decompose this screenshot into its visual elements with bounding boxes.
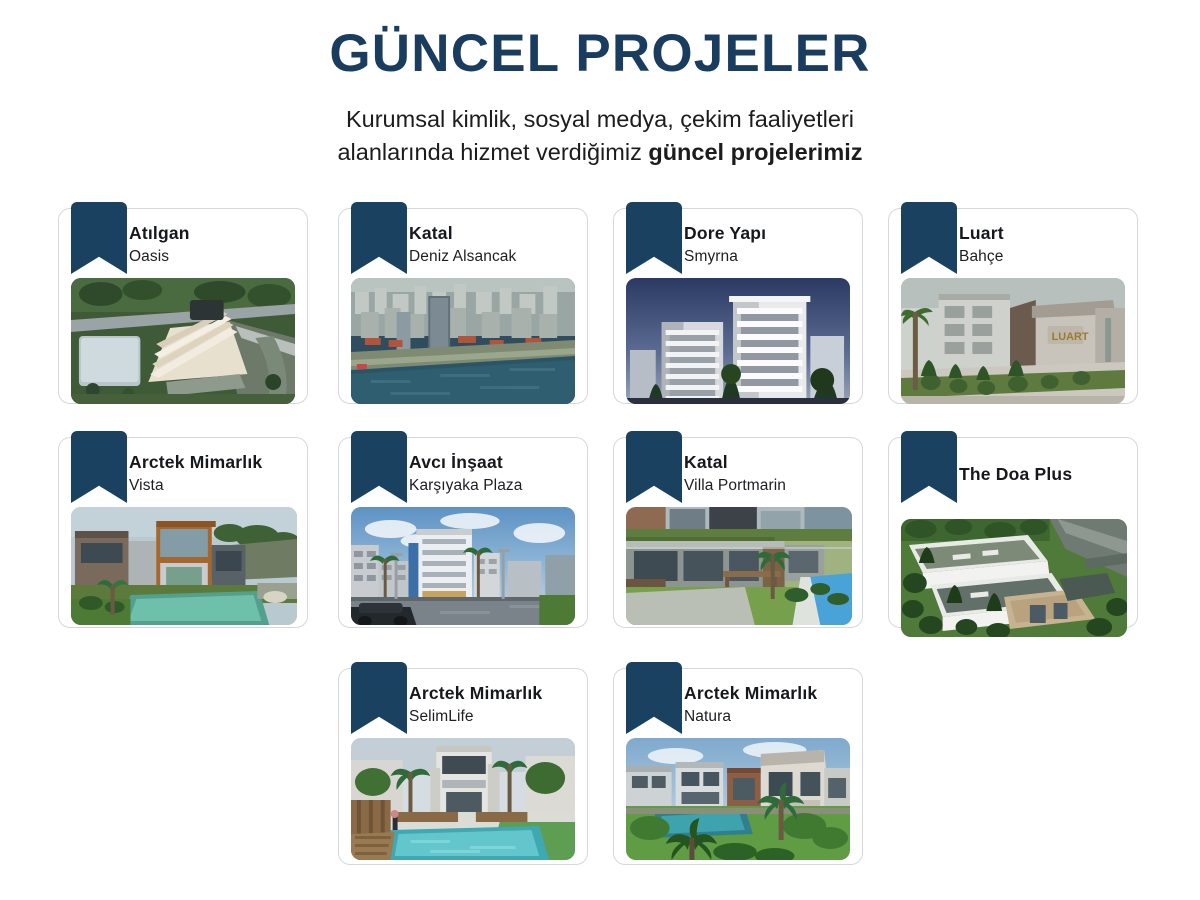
project-thumbnail[interactable]: [351, 738, 575, 860]
project-thumbnail[interactable]: [351, 278, 575, 404]
project-card[interactable]: Katal Villa Portmarin: [613, 437, 863, 628]
subtitle-line-2: alanlarında hizmet verdiğimiz güncel pro…: [0, 136, 1200, 169]
project-subtitle: Vista: [129, 476, 295, 495]
project-title: Atılgan: [129, 223, 295, 244]
project-subtitle: Karşıyaka Plaza: [409, 476, 575, 495]
project-title: Dore Yapı: [684, 223, 850, 244]
page-subtitle: Kurumsal kimlik, sosyal medya, çekim faa…: [0, 103, 1200, 170]
project-thumbnail[interactable]: [626, 278, 850, 404]
project-card[interactable]: Dore Yapı Smyrna: [613, 208, 863, 404]
project-card[interactable]: Arctek Mimarlık SelimLife: [338, 668, 588, 865]
project-card[interactable]: Avcı İnşaat Karşıyaka Plaza: [338, 437, 588, 628]
project-card[interactable]: Atılgan Oasis: [58, 208, 308, 404]
project-title: Arctek Mimarlık: [129, 452, 295, 473]
project-thumbnail[interactable]: [71, 507, 297, 625]
project-title: The Doa Plus: [959, 464, 1125, 485]
project-thumbnail[interactable]: [626, 738, 850, 860]
project-subtitle: Smyrna: [684, 247, 850, 266]
project-card[interactable]: Katal Deniz Alsancak: [338, 208, 588, 404]
subtitle-line-2-bold: güncel projelerimiz: [648, 139, 862, 165]
project-subtitle: Natura: [684, 707, 850, 726]
project-thumbnail[interactable]: [351, 507, 575, 625]
project-title: Avcı İnşaat: [409, 452, 575, 473]
project-card[interactable]: Luart Bahçe: [888, 208, 1138, 404]
project-title: Arctek Mimarlık: [684, 683, 850, 704]
page-title: GÜNCEL PROJELER: [0, 26, 1200, 82]
project-subtitle: Bahçe: [959, 247, 1125, 266]
project-subtitle: Oasis: [129, 247, 295, 266]
subtitle-line-1: Kurumsal kimlik, sosyal medya, çekim faa…: [0, 103, 1200, 136]
project-card[interactable]: The Doa Plus: [888, 437, 1138, 628]
project-thumbnail[interactable]: [71, 278, 295, 404]
project-subtitle: Villa Portmarin: [684, 476, 850, 495]
project-thumbnail[interactable]: LUART: [901, 278, 1125, 404]
project-thumbnail[interactable]: [901, 519, 1127, 637]
projects-page: GÜNCEL PROJELER Kurumsal kimlik, sosyal …: [0, 0, 1200, 900]
project-card[interactable]: Arctek Mimarlık Vista: [58, 437, 308, 628]
project-title: Katal: [684, 452, 850, 473]
subtitle-line-2-normal: alanlarında hizmet verdiğimiz: [337, 139, 648, 165]
project-title: Arctek Mimarlık: [409, 683, 575, 704]
project-title: Luart: [959, 223, 1125, 244]
project-title: Katal: [409, 223, 575, 244]
project-subtitle: Deniz Alsancak: [409, 247, 575, 266]
project-subtitle: SelimLife: [409, 707, 575, 726]
svg-text:LUART: LUART: [1052, 331, 1089, 343]
project-card[interactable]: Arctek Mimarlık Natura: [613, 668, 863, 865]
page-header: GÜNCEL PROJELER Kurumsal kimlik, sosyal …: [0, 0, 1200, 169]
project-thumbnail[interactable]: [626, 507, 852, 625]
